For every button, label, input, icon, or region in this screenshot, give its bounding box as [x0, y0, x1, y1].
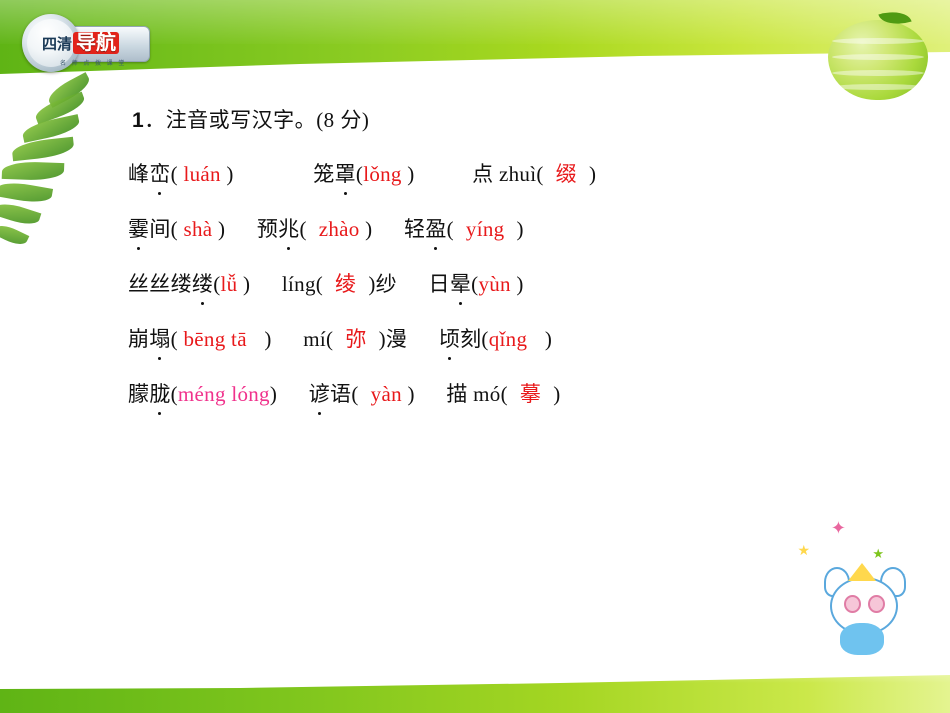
- prompt-word: 谚语: [309, 382, 352, 406]
- answer-text: luán: [183, 162, 220, 186]
- prompt-word: 轻盈: [404, 217, 447, 241]
- fern-leaflet: [0, 179, 53, 205]
- answer-text: lǚ: [221, 272, 238, 296]
- prompt-word: 描 mó: [446, 382, 500, 406]
- question-score: (8 分): [316, 108, 369, 132]
- answer-text: yàn: [371, 382, 402, 406]
- question-separator: ．: [144, 108, 166, 132]
- paren-open: (: [299, 217, 306, 241]
- paren-close: ): [589, 162, 596, 186]
- answer-text: bēng tā: [183, 327, 246, 351]
- answer-text: lǒng: [363, 162, 402, 186]
- apple-slice-1: [832, 38, 924, 44]
- answer-text: qǐng: [489, 327, 528, 351]
- dotted-char: 谚: [309, 378, 330, 408]
- paren-open: (: [171, 217, 178, 241]
- apple-slice-3: [832, 70, 924, 76]
- answer-text: zhào: [319, 217, 360, 241]
- answer-text: 弥: [345, 327, 366, 351]
- paren-close: ): [407, 162, 414, 186]
- paren-close: ): [516, 217, 523, 241]
- paren-close: ): [218, 217, 225, 241]
- mascot-character: [822, 561, 908, 657]
- logo-subtitle: 名 师 点 拨 课 堂: [60, 58, 126, 67]
- paren-open: (: [171, 327, 178, 351]
- paren-open: (: [326, 327, 333, 351]
- mascot-eye-right: [868, 595, 885, 613]
- paren-open: (: [536, 162, 543, 186]
- answer-text: 绫: [335, 272, 356, 296]
- paren-open: (: [447, 217, 454, 241]
- apple-icon: [824, 8, 932, 100]
- star-icon: ★: [797, 543, 810, 561]
- apple-slice-2: [832, 54, 924, 60]
- prompt-word: 点 zhuì: [472, 162, 536, 186]
- prompt-word: líng: [282, 272, 316, 296]
- paren-close: ): [407, 382, 414, 406]
- question-title: 1．注音或写汉字。(8 分): [132, 104, 888, 134]
- fern-leaflet: [11, 137, 75, 161]
- apple-slice-4: [832, 84, 924, 90]
- dotted-char: 塌: [149, 323, 170, 353]
- brand-logo: 四清 导航 名 师 点 拨 课 堂: [22, 14, 148, 72]
- fern-leaflet: [2, 161, 65, 181]
- dotted-char: 罩: [335, 158, 356, 188]
- paren-close: )纱: [368, 272, 397, 296]
- logo-text: 四清 导航: [42, 28, 146, 58]
- paren-close: ): [553, 382, 560, 406]
- paren-close: ): [516, 272, 523, 296]
- paren-close: ): [365, 217, 372, 241]
- answer-text: yíng: [466, 217, 505, 241]
- paren-close: ): [243, 272, 250, 296]
- fern-leaflet: [0, 199, 41, 228]
- paren-open: (: [213, 272, 220, 296]
- dotted-char: 盈: [425, 213, 446, 243]
- answer-text: 缀: [556, 162, 577, 186]
- prompt-word: mí: [303, 327, 326, 351]
- paren-open: (: [171, 162, 178, 186]
- paren-open: (: [501, 382, 508, 406]
- dotted-char: 兆: [278, 213, 299, 243]
- dotted-char: 晕: [450, 268, 471, 298]
- answer-text: 摹: [520, 382, 541, 406]
- paren-close: ): [270, 382, 277, 406]
- fern-decoration: [0, 82, 114, 272]
- paren-close: ): [545, 327, 552, 351]
- paren-open: (: [316, 272, 323, 296]
- answer-text: méng lóng: [178, 382, 270, 406]
- dotted-char: 顷: [439, 323, 460, 353]
- paren-open: (: [351, 382, 358, 406]
- mascot-hat: [848, 563, 876, 581]
- paren-open: (: [481, 327, 488, 351]
- paren-open: (: [171, 382, 178, 406]
- prompt-word: 预兆: [257, 217, 300, 241]
- logo-text-secondary: 导航: [73, 32, 119, 54]
- prompt-word: 朦胧: [128, 382, 171, 406]
- prompt-word: 顷刻: [439, 327, 482, 351]
- answer-row: 霎间( shà ) 预兆(zhào ) 轻盈(yíng): [128, 213, 888, 243]
- prompt-word: 笼罩: [313, 162, 356, 186]
- dotted-char: 缕: [192, 268, 213, 298]
- fern-leaflet: [0, 221, 29, 248]
- prompt-word: 霎间: [128, 217, 171, 241]
- paren-close: ): [226, 162, 233, 186]
- dotted-char: 霎: [128, 213, 149, 243]
- paren-close: ): [264, 327, 271, 351]
- exercise-content: 1．注音或写汉字。(8 分) 峰峦( luán ) 笼罩(lǒng ) 点 zh…: [128, 104, 888, 433]
- dotted-char: 峦: [149, 158, 170, 188]
- question-title-text: 注音或写汉字。: [166, 108, 317, 132]
- prompt-word: 丝丝缕缕: [128, 272, 213, 296]
- prompt-word: 日晕: [429, 272, 472, 296]
- mascot-body: [840, 623, 884, 655]
- question-number: 1: [132, 109, 144, 132]
- answer-text: yùn: [478, 272, 510, 296]
- prompt-word: 崩塌: [128, 327, 171, 351]
- logo-text-primary: 四清: [42, 33, 72, 54]
- answer-row: 朦胧(méng lóng) 谚语(yàn ) 描 mó(摹): [128, 378, 888, 408]
- star-icon: ✦: [831, 519, 846, 537]
- answer-row: 崩塌( bēng tā ) mí(弥)漫 顷刻(qǐng ): [128, 323, 888, 353]
- answer-text: shà: [183, 217, 212, 241]
- paren-close: )漫: [379, 327, 408, 351]
- mascot-eye-left: [844, 595, 861, 613]
- slide: 四清 导航 名 师 点 拨 课 堂 1．注音或写汉字。(8 分) 峰峦( luá…: [0, 0, 950, 713]
- dotted-char: 胧: [149, 378, 170, 408]
- answer-row: 丝丝缕缕(lǚ ) líng(绫)纱 日晕(yùn ): [128, 268, 888, 298]
- answer-row: 峰峦( luán ) 笼罩(lǒng ) 点 zhuì(缀): [128, 158, 888, 188]
- prompt-word: 峰峦: [128, 162, 171, 186]
